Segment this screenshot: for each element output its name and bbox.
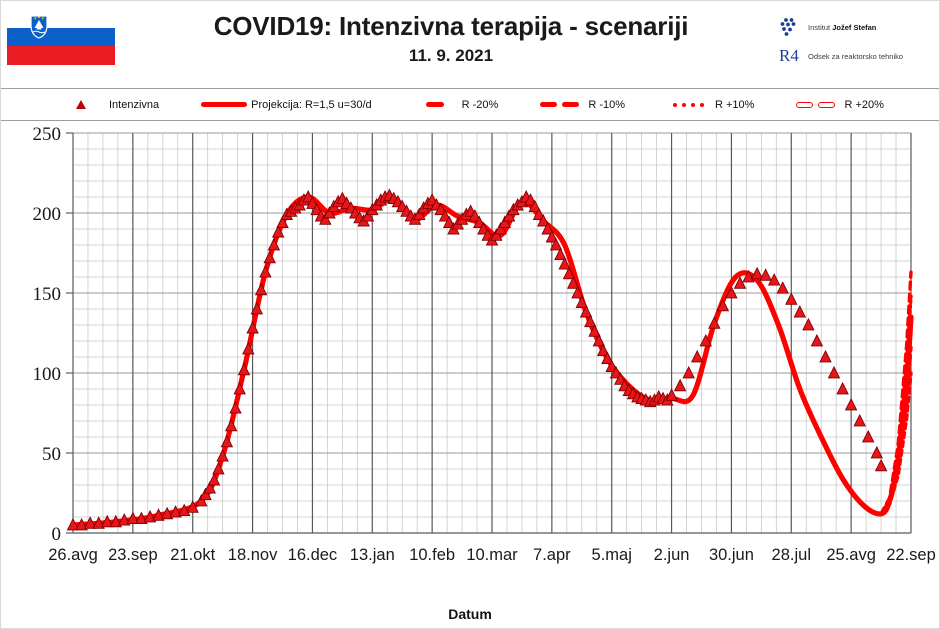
y-tick-label: 250 (33, 124, 62, 145)
y-tick-label: 100 (33, 364, 62, 385)
legend-label: Intenzivna (109, 99, 159, 111)
page-title: COVID19: Intenzivna terapija - scenariji (131, 9, 771, 43)
solid-line-icon (201, 98, 247, 112)
dash-dash-line-icon (538, 98, 584, 112)
x-tick-label: 28.jul (772, 546, 811, 564)
legend-item-projekcija[interactable]: Projekcija: R=1,5 u=30/d (201, 89, 371, 121)
legend-item-r-plus-20[interactable]: R +20% (794, 89, 883, 121)
short-dash-line-icon (412, 98, 458, 112)
y-tick-label: 50 (42, 444, 61, 465)
flag-band-white (7, 9, 115, 28)
x-tick-label: 23.sep (108, 546, 158, 564)
brand-row-department: R4 Odsek za reaktorsko tehniko (779, 46, 931, 68)
hollow-dash-line-icon (794, 98, 840, 112)
y-tick-label: 0 (52, 524, 62, 545)
chart-plot-area: 05010015020025026.avg23.sep21.okt18.nov1… (1, 121, 939, 628)
legend-item-r-minus-10[interactable]: R -10% (538, 89, 625, 121)
legend-label: Projekcija: R=1,5 u=30/d (251, 99, 371, 111)
x-tick-label: 16.dec (288, 546, 338, 564)
slovenia-flag-icon (7, 9, 115, 65)
dotted-line-icon (665, 98, 711, 112)
institute-prefix: Institut (808, 23, 832, 32)
x-tick-label: 5.maj (592, 546, 632, 564)
chart-svg: 05010015020025026.avg23.sep21.okt18.nov1… (1, 121, 939, 628)
x-tick-label: 13.jan (350, 546, 395, 564)
header: COVID19: Intenzivna terapija - scenariji… (1, 1, 939, 89)
r4-text: R4 (779, 46, 799, 65)
legend-label: R +10% (715, 99, 754, 111)
x-tick-label: 21.okt (170, 546, 215, 564)
x-axis-title: Datum (1, 606, 939, 622)
institute-bold: Jožef Stefan (832, 23, 876, 32)
x-tick-label: 30.jun (709, 546, 754, 564)
legend-label: R +20% (844, 99, 883, 111)
ijs-dots-logo-icon (779, 17, 803, 39)
x-tick-label: 22.sep (886, 546, 936, 564)
legend-item-r-plus-10[interactable]: R +10% (665, 89, 754, 121)
coat-of-arms-icon (29, 13, 49, 39)
r4-logo-icon: R4 (779, 46, 803, 68)
flag-band-red (7, 46, 115, 65)
x-tick-label: 10.mar (466, 546, 518, 564)
legend-item-r-minus-20[interactable]: R -20% (412, 89, 499, 121)
x-tick-label: 25.avg (826, 546, 876, 564)
brand-row-institute: Institut Jožef Stefan (779, 17, 931, 39)
page-date: 11. 9. 2021 (131, 43, 771, 69)
legend-item-intenzivna[interactable]: Intenzivna (59, 89, 159, 121)
triangle-marker-icon (59, 98, 105, 112)
x-tick-label: 18.nov (228, 546, 278, 564)
y-tick-label: 150 (33, 284, 62, 305)
y-tick-label: 200 (33, 204, 62, 225)
chart-legend: Intenzivna Projekcija: R=1,5 u=30/d R -2… (1, 89, 939, 121)
x-tick-label: 7.apr (533, 546, 571, 564)
legend-label: R -20% (462, 99, 499, 111)
x-tick-label: 2.jun (654, 546, 690, 564)
legend-label: R -10% (588, 99, 625, 111)
department-name: Odsek za reaktorsko tehniko (808, 52, 903, 62)
title-block: COVID19: Intenzivna terapija - scenariji… (131, 9, 771, 69)
institute-name: Institut Jožef Stefan (808, 23, 876, 33)
x-tick-label: 26.avg (48, 546, 98, 564)
flag-band-blue (7, 28, 115, 47)
x-tick-label: 10.feb (409, 546, 455, 564)
chart-page: COVID19: Intenzivna terapija - scenariji… (0, 0, 940, 629)
institute-branding: Institut Jožef Stefan R4 Odsek za reakto… (779, 17, 931, 75)
